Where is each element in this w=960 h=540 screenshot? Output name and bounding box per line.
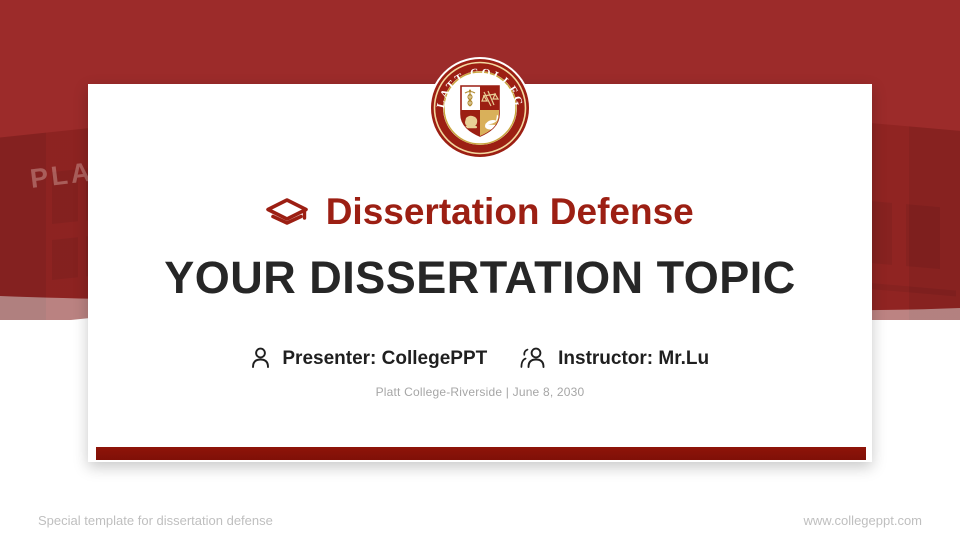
platt-college-seal-logo: PLATT COLLEGE EST. 1985 [428, 56, 532, 160]
instructor-label: Instructor: Mr.Lu [558, 348, 709, 370]
instructor-block: Instructor: Mr.Lu [520, 347, 709, 374]
kicker-text: Dissertation Defense [326, 191, 694, 233]
graduation-cap-icon [266, 198, 308, 236]
kicker-line: Dissertation Defense [0, 191, 960, 236]
card-bottom-accent-bar [96, 447, 866, 460]
presentation-slide: PLATT EGE PLATT COLLEGE EST. 198 [0, 0, 960, 540]
presenter-block: Presenter: CollegePPT [251, 347, 487, 374]
presenter-label: Presenter: CollegePPT [282, 348, 487, 370]
footer-website: www.collegeppt.com [804, 513, 923, 528]
people-group-icon [520, 347, 546, 374]
slide-meta: Platt College-Riverside | June 8, 2030 [0, 385, 960, 399]
footer-tagline: Special template for dissertation defens… [38, 513, 273, 528]
person-icon [251, 347, 270, 374]
people-line: Presenter: CollegePPT Instructor: Mr.Lu [0, 347, 960, 374]
page-title: YOUR DISSERTATION TOPIC [0, 252, 960, 304]
